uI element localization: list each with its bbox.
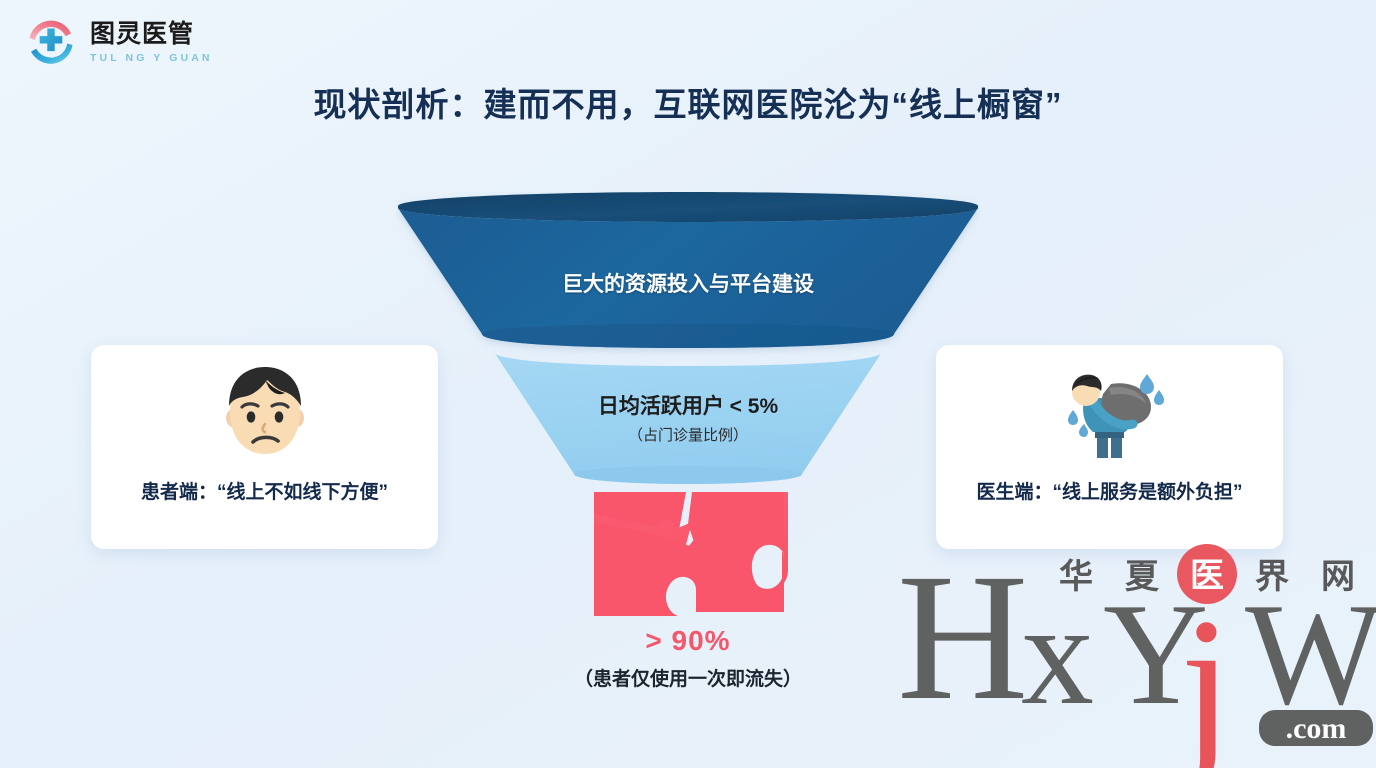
loss-percentage: > 90%	[396, 625, 980, 657]
medical-cross-swoosh-logo-icon	[22, 14, 80, 72]
card-patient[interactable]: 患者端：“线上不如线下方便”	[91, 345, 438, 549]
funnel-stage-investment	[398, 192, 978, 348]
svg-text:界: 界	[1255, 558, 1289, 596]
svg-text:医: 医	[1190, 557, 1224, 595]
svg-text:网: 网	[1321, 558, 1355, 596]
frowning-face-emoji-icon	[215, 363, 315, 461]
card-doctor-caption: 医生端：“线上服务是额外负担”	[976, 477, 1242, 504]
loss-note: （患者仅使用一次即流失）	[396, 664, 980, 691]
card-patient-caption: 患者端：“线上不如线下方便”	[141, 477, 388, 504]
brand-name-cn: 图灵医管	[90, 22, 213, 47]
svg-text:华: 华	[1059, 558, 1093, 596]
svg-text:.com: .com	[1286, 712, 1347, 745]
funnel-chart: 巨大的资源投入与平台建设 日均活跃用户 < 5% （占门诊量比例）	[396, 192, 980, 632]
card-doctor[interactable]: 医生端：“线上服务是额外负担”	[936, 345, 1283, 549]
brand-name-en: TUL NG Y GUAN	[90, 53, 213, 64]
funnel-stage-churn-leak	[594, 492, 788, 616]
svg-text:Y: Y	[1103, 573, 1208, 735]
loss-summary: > 90% （患者仅使用一次即流失）	[396, 625, 980, 691]
svg-text:x: x	[1021, 573, 1094, 735]
funnel-stage-active-users	[494, 352, 882, 484]
svg-text:j: j	[1174, 580, 1233, 768]
brand-wordmark: 图灵医管 TUL NG Y GUAN	[90, 22, 213, 64]
svg-text:夏: 夏	[1125, 558, 1160, 596]
svg-text:W: W	[1245, 573, 1376, 735]
slide-canvas: 图灵医管 TUL NG Y GUAN 现状剖析：建而不用，互联网医院沦为“线上橱…	[0, 0, 1376, 768]
page-title: 现状剖析：建而不用，互联网医院沦为“线上橱窗”	[0, 78, 1376, 126]
person-carrying-heavy-load-icon	[1051, 363, 1169, 461]
brand-logo: 图灵医管 TUL NG Y GUAN	[22, 14, 213, 72]
